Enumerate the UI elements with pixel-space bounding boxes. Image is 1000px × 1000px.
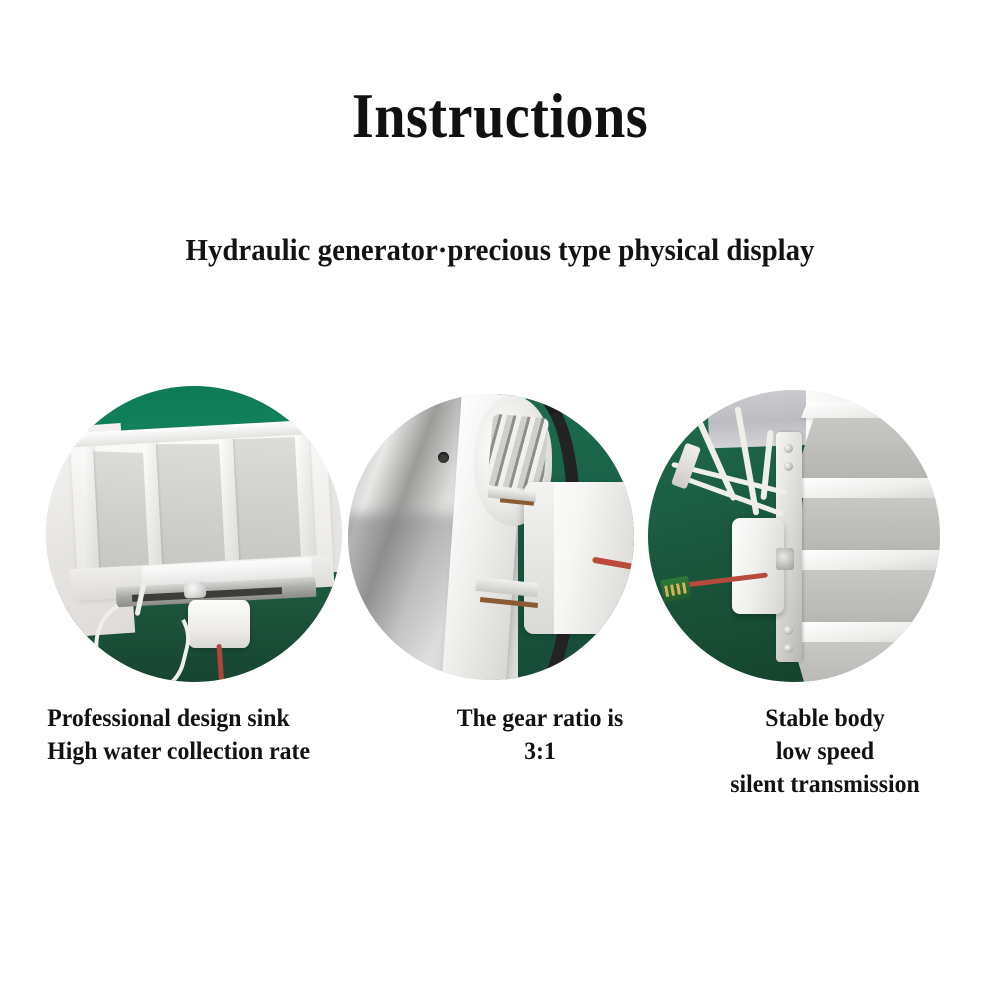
photo-gear-belt: [348, 394, 634, 680]
photo-turbine-trough-scene: [46, 386, 342, 682]
feature-1-caption-line-1: Professional design sink: [47, 702, 400, 735]
feature-2-caption-line-2: 3:1: [426, 735, 654, 768]
feature-2-caption-line-1: The gear ratio is: [426, 702, 654, 735]
feature-3-photo-cell: [648, 390, 948, 700]
instructions-page: Instructions Hydraulic generator·preciou…: [0, 0, 1000, 1000]
feature-1-photo-cell: [46, 386, 346, 696]
feature-captions: Professional design sink High water coll…: [0, 702, 1000, 812]
feature-photo-row: [0, 380, 1000, 700]
feature-2-photo-cell: [348, 394, 648, 704]
feature-3-caption: Stable body low speed silent transmissio…: [687, 702, 963, 801]
photo-stable-body-scene: [648, 390, 940, 682]
feature-2-caption: The gear ratio is 3:1: [426, 702, 654, 768]
feature-3-caption-line-1: Stable body: [687, 702, 963, 735]
feature-3-caption-line-3: silent transmission: [687, 768, 963, 801]
photo-turbine-trough: [46, 386, 342, 682]
feature-1-caption: Professional design sink High water coll…: [47, 702, 400, 768]
page-subtitle: Hydraulic generator·precious type physic…: [35, 232, 965, 268]
feature-1-caption-line-2: High water collection rate: [47, 735, 400, 768]
photo-gear-belt-scene: [348, 394, 634, 680]
photo-stable-body: [648, 390, 940, 682]
page-title: Instructions: [60, 82, 940, 149]
feature-3-caption-line-2: low speed: [687, 735, 963, 768]
